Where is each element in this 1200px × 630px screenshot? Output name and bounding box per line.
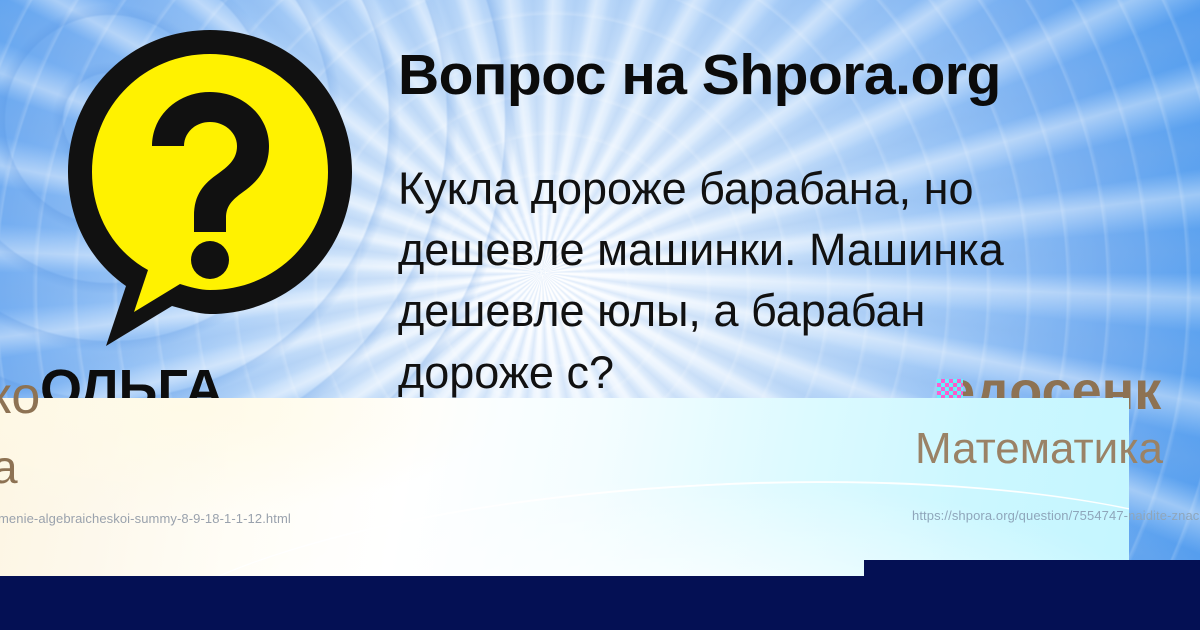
question-speech-bubble-icon <box>60 24 360 354</box>
question-body-line: Кукла дороже барабана, но <box>398 158 1200 219</box>
secondary-card-text-fragment-upper: ко <box>0 366 40 426</box>
question-body-line: дешевле юлы, а барабан <box>398 280 1200 341</box>
url-fragment-right[interactable]: https://shpora.org/question/7554747-naid… <box>912 508 1200 523</box>
question-body-line: дешевле машинки. Машинка <box>398 219 1200 280</box>
url-fragment-left[interactable]: menie-algebraicheskoi-summy-8-9-18-1-1-1… <box>0 511 291 526</box>
page-title: Вопрос на Shpora.org <box>398 46 1200 105</box>
footer-band-right <box>864 560 1200 630</box>
footer-band-left <box>0 576 864 630</box>
subject-label: Математика <box>915 424 1163 474</box>
secondary-card-text-fragment-lower: а <box>0 440 18 494</box>
